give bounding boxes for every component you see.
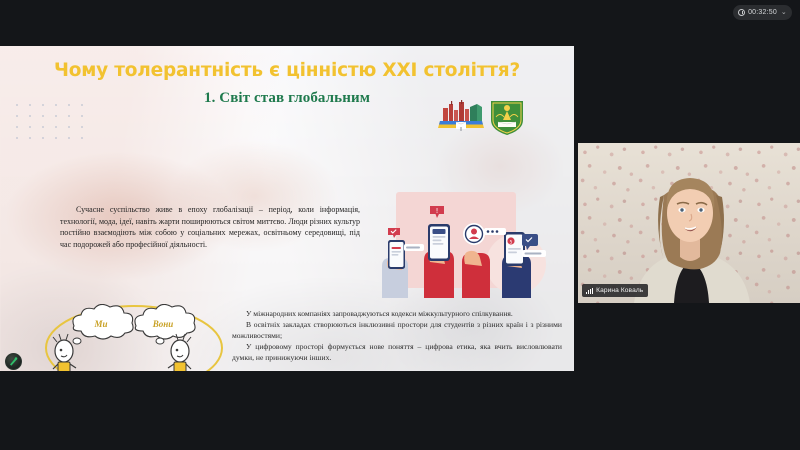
meeting-timer[interactable]: 00:32:50 ⌄ [733,5,792,20]
clock-icon [738,9,745,16]
meeting-screen-share-view: 00:32:50 ⌄ Чому толерантність є цінністю… [0,0,800,450]
participant-video-tile[interactable]: Карина Коваль [578,143,800,303]
slide-paragraph-lower-item: У цифровому просторі формується нове пон… [232,341,562,363]
shared-slide[interactable]: Чому толерантність є цінністю XXI століт… [0,46,574,371]
signal-bars-icon [586,288,593,294]
hands-holding-smartphones-social-media-illustration: ! 5 [366,192,562,298]
svg-text:!: ! [436,207,439,215]
slide-paragraph-lower-item: В освітніх закладах створюються інклюзив… [232,319,562,341]
participant-webcam-image [578,143,800,303]
participant-name: Карина Коваль [596,287,643,294]
slide-paragraph-lower-item: У міжнародних компаніях запроваджуються … [232,308,562,319]
svg-text:Вони: Вони [152,319,174,329]
svg-text:5: 5 [510,239,513,245]
chevron-down-icon[interactable]: ⌄ [781,9,787,16]
slide-paragraph-lower: У міжнародних компаніях запроваджуються … [232,308,562,363]
green-shield-coat-of-arms-emblem [489,98,525,136]
we-them-thought-bubble-illustration: Ми Вони [44,304,224,371]
dot-grid-pattern [16,104,94,148]
svg-text:Ми: Ми [93,319,107,329]
participant-name-badge: Карина Коваль [582,284,648,297]
meeting-timer-value: 00:32:50 [748,9,777,16]
slide-title: Чому толерантність є цінністю XXI століт… [0,60,574,81]
slide-paragraph-main: Сучасне суспільство живе в епоху глобалі… [60,204,360,250]
emblems-group [437,98,525,136]
green-circular-badge-logo [5,353,22,370]
university-city-emblem [437,100,485,134]
